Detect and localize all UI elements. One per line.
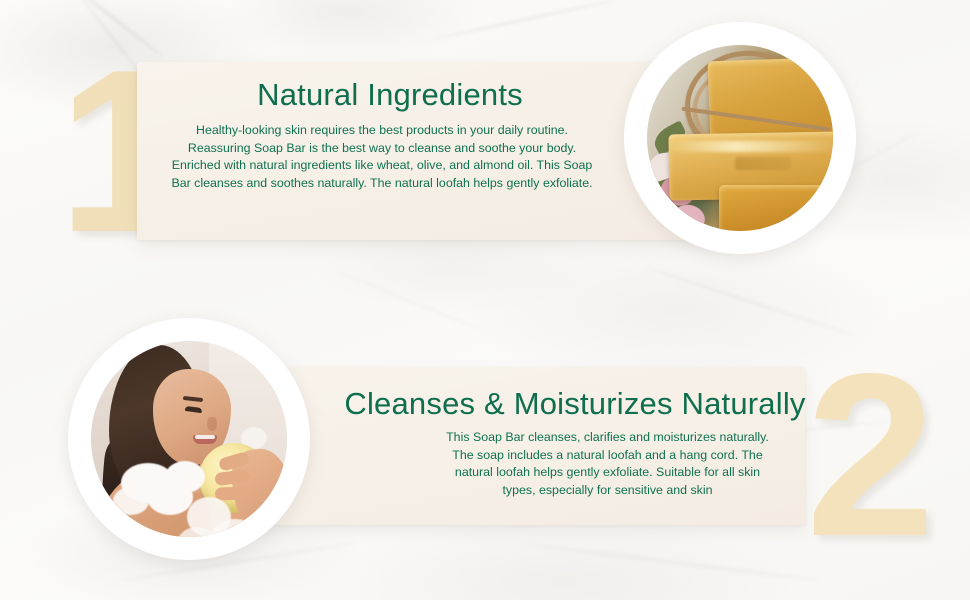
foam-shape [165,461,205,493]
soap-emboss-shape [735,157,791,170]
soap-bars-illustration [647,45,833,231]
teeth-shape [195,435,215,439]
soap-bars-photo [624,22,856,254]
feature-number-2: 2 [806,340,930,572]
marble-vein [335,270,484,332]
leaf-shape [663,218,696,231]
woman-loofah-illustration [91,341,287,537]
feature-2-title: Cleanses & Moisturizes Naturally [335,387,815,421]
feature-2-body: This Soap Bar cleanses, clarifies and mo… [440,429,775,499]
nose-shape [207,417,217,431]
feature-card-2: Cleanses & Moisturizes Naturally This So… [225,367,805,525]
foam-shape [113,487,149,515]
feature-1-body: Healthy-looking skin requires the best p… [167,122,597,192]
feature-1-title: Natural Ingredients [183,78,597,112]
marble-vein [432,0,618,41]
feature-number-2-glyph: 2 [806,340,930,572]
soap-bars-photo-clip [647,45,833,231]
soap-bar-shape [719,185,833,231]
woman-loofah-photo [68,318,310,560]
infographic-canvas: 1 Natural Ingredients Healthy-looking sk… [0,0,970,600]
soap-highlight-shape [667,141,833,152]
woman-loofah-photo-clip [91,341,287,537]
finger-shape [215,486,249,500]
marble-vein [521,542,819,583]
